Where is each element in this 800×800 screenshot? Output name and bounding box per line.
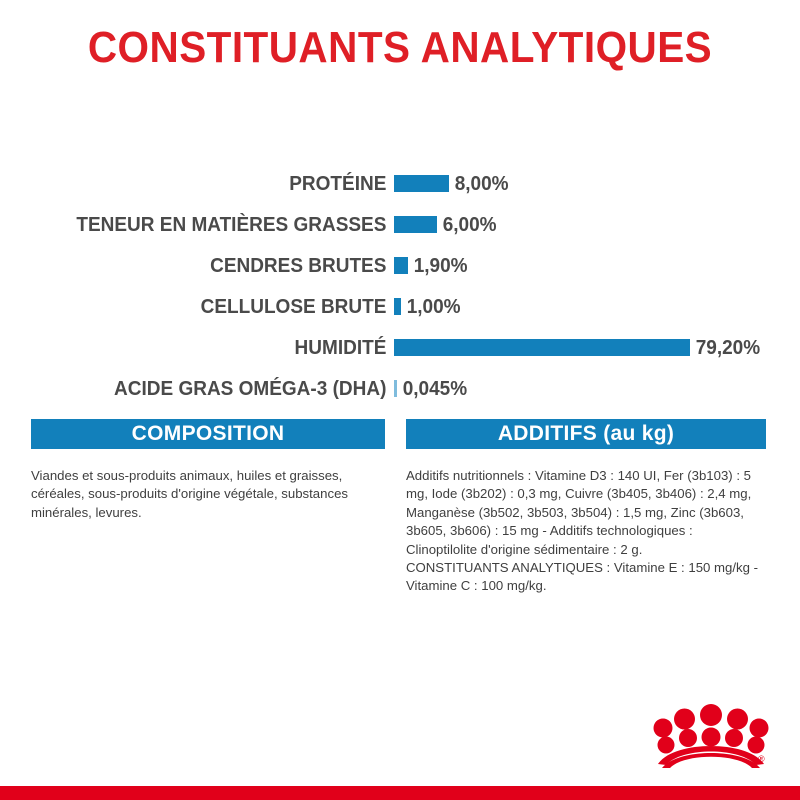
chart-label-proteine: PROTÉINE — [20, 173, 394, 195]
chart-barwrap: 1,90% — [394, 255, 800, 277]
bottom-accent-bar — [0, 786, 800, 800]
chart-bar-cendres-brutes — [394, 257, 408, 274]
composition-body-text: Viandes et sous-produits animaux, huiles… — [31, 467, 385, 596]
chart-bar-cellulose-brute — [394, 298, 401, 315]
chart-row: HUMIDITÉ 79,20% — [0, 327, 800, 368]
registered-trademark-mark: ® — [758, 754, 765, 764]
chart-row: ACIDE GRAS OMÉGA-3 (DHA) 0,045% — [0, 368, 800, 409]
chart-value-cellulose-brute: 1,00% — [401, 296, 461, 318]
chart-label-matieres-grasses: TENEUR EN MATIÈRES GRASSES — [20, 214, 394, 236]
section-header-row: COMPOSITION ADDITIFS (au kg) — [31, 419, 766, 449]
chart-label-cendres-brutes: CENDRES BRUTES — [20, 255, 394, 277]
chart-label-cellulose-brute: CELLULOSE BRUTE — [20, 296, 394, 318]
royal-canin-crown-icon: ® — [652, 702, 770, 768]
chart-bar-humidite — [394, 339, 690, 356]
chart-value-cendres-brutes: 1,90% — [408, 255, 468, 277]
section-body-row: Viandes et sous-produits animaux, huiles… — [31, 467, 766, 596]
chart-label-omega-3-dha: ACIDE GRAS OMÉGA-3 (DHA) — [20, 378, 394, 400]
chart-barwrap: 0,045% — [394, 378, 800, 400]
additifs-body-text: Additifs nutritionnels : Vitamine D3 : 1… — [406, 467, 766, 596]
chart-value-proteine: 8,00% — [449, 173, 509, 195]
section-header-composition: COMPOSITION — [31, 419, 385, 449]
chart-label-humidite: HUMIDITÉ — [20, 337, 394, 359]
page-title: CONSTITUANTS ANALYTIQUES — [32, 22, 768, 74]
chart-value-matieres-grasses: 6,00% — [437, 214, 497, 236]
chart-value-humidite: 79,20% — [690, 337, 760, 359]
chart-barwrap: 6,00% — [394, 214, 800, 236]
chart-row: TENEUR EN MATIÈRES GRASSES 6,00% — [0, 204, 800, 245]
chart-row: CELLULOSE BRUTE 1,00% — [0, 286, 800, 327]
chart-value-omega-3-dha: 0,045% — [397, 378, 467, 400]
chart-barwrap: 79,20% — [394, 337, 800, 359]
section-header-additifs: ADDITIFS (au kg) — [406, 419, 766, 449]
chart-row: CENDRES BRUTES 1,90% — [0, 245, 800, 286]
chart-row: PROTÉINE 8,00% — [0, 163, 800, 204]
product-nutrition-panel: CONSTITUANTS ANALYTIQUES PROTÉINE 8,00% … — [0, 0, 800, 800]
analytical-constituents-chart: PROTÉINE 8,00% TENEUR EN MATIÈRES GRASSE… — [0, 163, 800, 409]
chart-bar-matieres-grasses — [394, 216, 437, 233]
chart-barwrap: 8,00% — [394, 173, 800, 195]
chart-barwrap: 1,00% — [394, 296, 800, 318]
chart-bar-proteine — [394, 175, 449, 192]
